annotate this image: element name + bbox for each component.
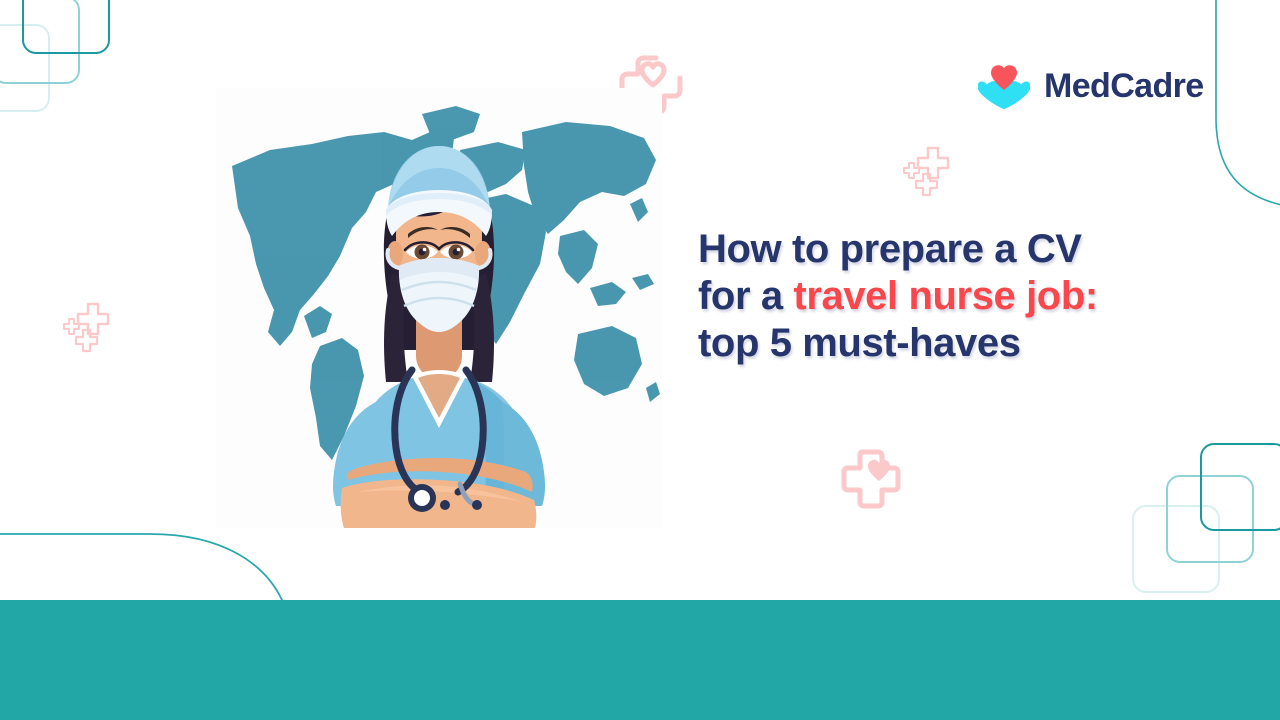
decor-square-strong — [22, 0, 110, 54]
headline-accent: travel nurse job: — [793, 274, 1097, 318]
headline-line-2-prefix: for a — [698, 274, 793, 318]
page-title: How to prepare a CV for a travel nurse j… — [698, 226, 1168, 368]
cross-cluster-left-icon — [60, 300, 122, 356]
headline-line-3: top 5 must-haves — [698, 320, 1168, 367]
heart-swoosh-logo-icon — [978, 62, 1030, 110]
nurse-illustration — [216, 88, 662, 528]
decor-square-stack-bottom-right — [1132, 443, 1280, 603]
decor-square-strong — [1200, 443, 1280, 531]
cross-cluster-right-icon — [900, 144, 962, 200]
decor-square-stack-top-left — [0, 0, 162, 146]
brand-logo[interactable]: MedCadre — [978, 62, 1204, 110]
nurse-world-map-graphic — [216, 88, 662, 528]
headline-line-1: How to prepare a CV — [698, 226, 1168, 273]
cross-with-heart-icon — [836, 442, 910, 514]
brand-wordmark: MedCadre — [1044, 67, 1204, 106]
headline-line-2: for a travel nurse job: — [698, 273, 1168, 320]
poster-canvas: How to prepare a CV for a travel nurse j… — [0, 0, 1280, 720]
sleeve-right — [502, 402, 545, 506]
footer-bar — [0, 600, 1280, 720]
